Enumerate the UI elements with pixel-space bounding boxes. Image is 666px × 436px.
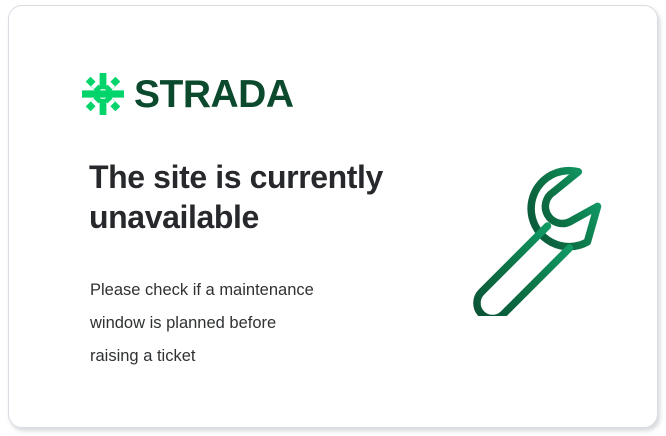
description-line: raising a ticket xyxy=(90,340,400,373)
asterisk-star-icon xyxy=(81,72,125,116)
page-description: Please check if a maintenance window is … xyxy=(90,274,400,373)
status-card: STRADA The site is currently unavailable… xyxy=(8,5,658,428)
brand-wordmark: STRADA xyxy=(134,75,294,114)
brand-logo: STRADA xyxy=(81,72,294,116)
wrench-icon xyxy=(461,156,626,316)
description-line: window is planned before xyxy=(90,307,400,340)
error-page: STRADA The site is currently unavailable… xyxy=(0,0,666,436)
page-title: The site is currently unavailable xyxy=(89,158,419,237)
description-line: Please check if a maintenance xyxy=(90,274,400,307)
